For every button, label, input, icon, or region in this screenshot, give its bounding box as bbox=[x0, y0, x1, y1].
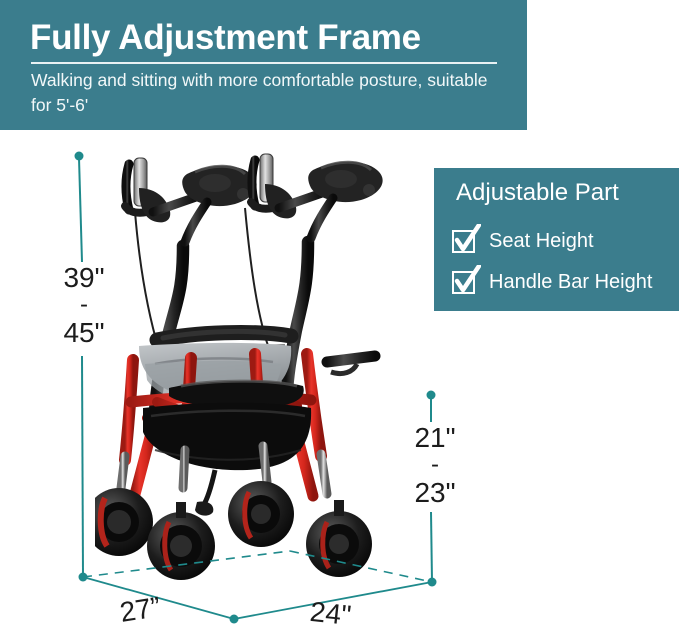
width-label: 24" bbox=[309, 598, 353, 630]
header-divider bbox=[31, 62, 497, 64]
adjustable-part-panel: Adjustable Part Seat Height Handle Bar H… bbox=[434, 168, 679, 311]
guide-corner-dot-left bbox=[79, 573, 88, 582]
header-banner: Fully Adjustment Frame Walking and sitti… bbox=[0, 0, 527, 130]
handle-height-guide-lower bbox=[82, 356, 83, 577]
depth-label: 27” bbox=[118, 593, 162, 627]
seat-height-label: 21" - 23" bbox=[404, 424, 466, 507]
handle-height-dash: - bbox=[52, 293, 116, 317]
guide-corner-dot-front bbox=[230, 615, 239, 624]
adjustable-item-label: Handle Bar Height bbox=[489, 272, 652, 292]
header-subtitle: Walking and sitting with more comfortabl… bbox=[31, 68, 511, 118]
seat-height-guide-lower bbox=[431, 512, 432, 582]
guide-endpoint-dot bbox=[427, 391, 436, 400]
adjustable-item-seat-height[interactable]: Seat Height bbox=[452, 228, 594, 253]
adjustable-item-label: Seat Height bbox=[489, 231, 594, 251]
seat-height-max: 23" bbox=[414, 477, 455, 508]
handle-height-guide-upper bbox=[79, 158, 82, 262]
guide-corner-dot-right bbox=[428, 578, 437, 587]
checkbox-checked-icon[interactable] bbox=[452, 269, 477, 294]
wheel-front-right bbox=[306, 511, 372, 577]
rollator-walker-drawing bbox=[95, 150, 405, 590]
seat-height-min: 21" bbox=[414, 422, 455, 453]
seat-height-dash: - bbox=[404, 453, 466, 477]
handle-height-label: 39" - 45" bbox=[52, 264, 116, 347]
adjustable-part-title: Adjustable Part bbox=[456, 179, 619, 207]
checkmark-icon bbox=[454, 265, 481, 294]
handle-height-min: 39" bbox=[63, 262, 104, 293]
adjustable-item-handle-bar-height[interactable]: Handle Bar Height bbox=[452, 269, 652, 294]
wheel-front-left bbox=[147, 512, 215, 580]
checkmark-icon bbox=[454, 224, 481, 253]
page-title: Fully Adjustment Frame bbox=[30, 18, 421, 58]
wheel-rear-right bbox=[228, 481, 294, 547]
product-image-rollator-walker bbox=[95, 150, 405, 590]
guide-endpoint-dot bbox=[75, 152, 84, 161]
checkbox-checked-icon[interactable] bbox=[452, 228, 477, 253]
handle-height-max: 45" bbox=[63, 317, 104, 348]
wheel-rear-left bbox=[95, 488, 153, 556]
